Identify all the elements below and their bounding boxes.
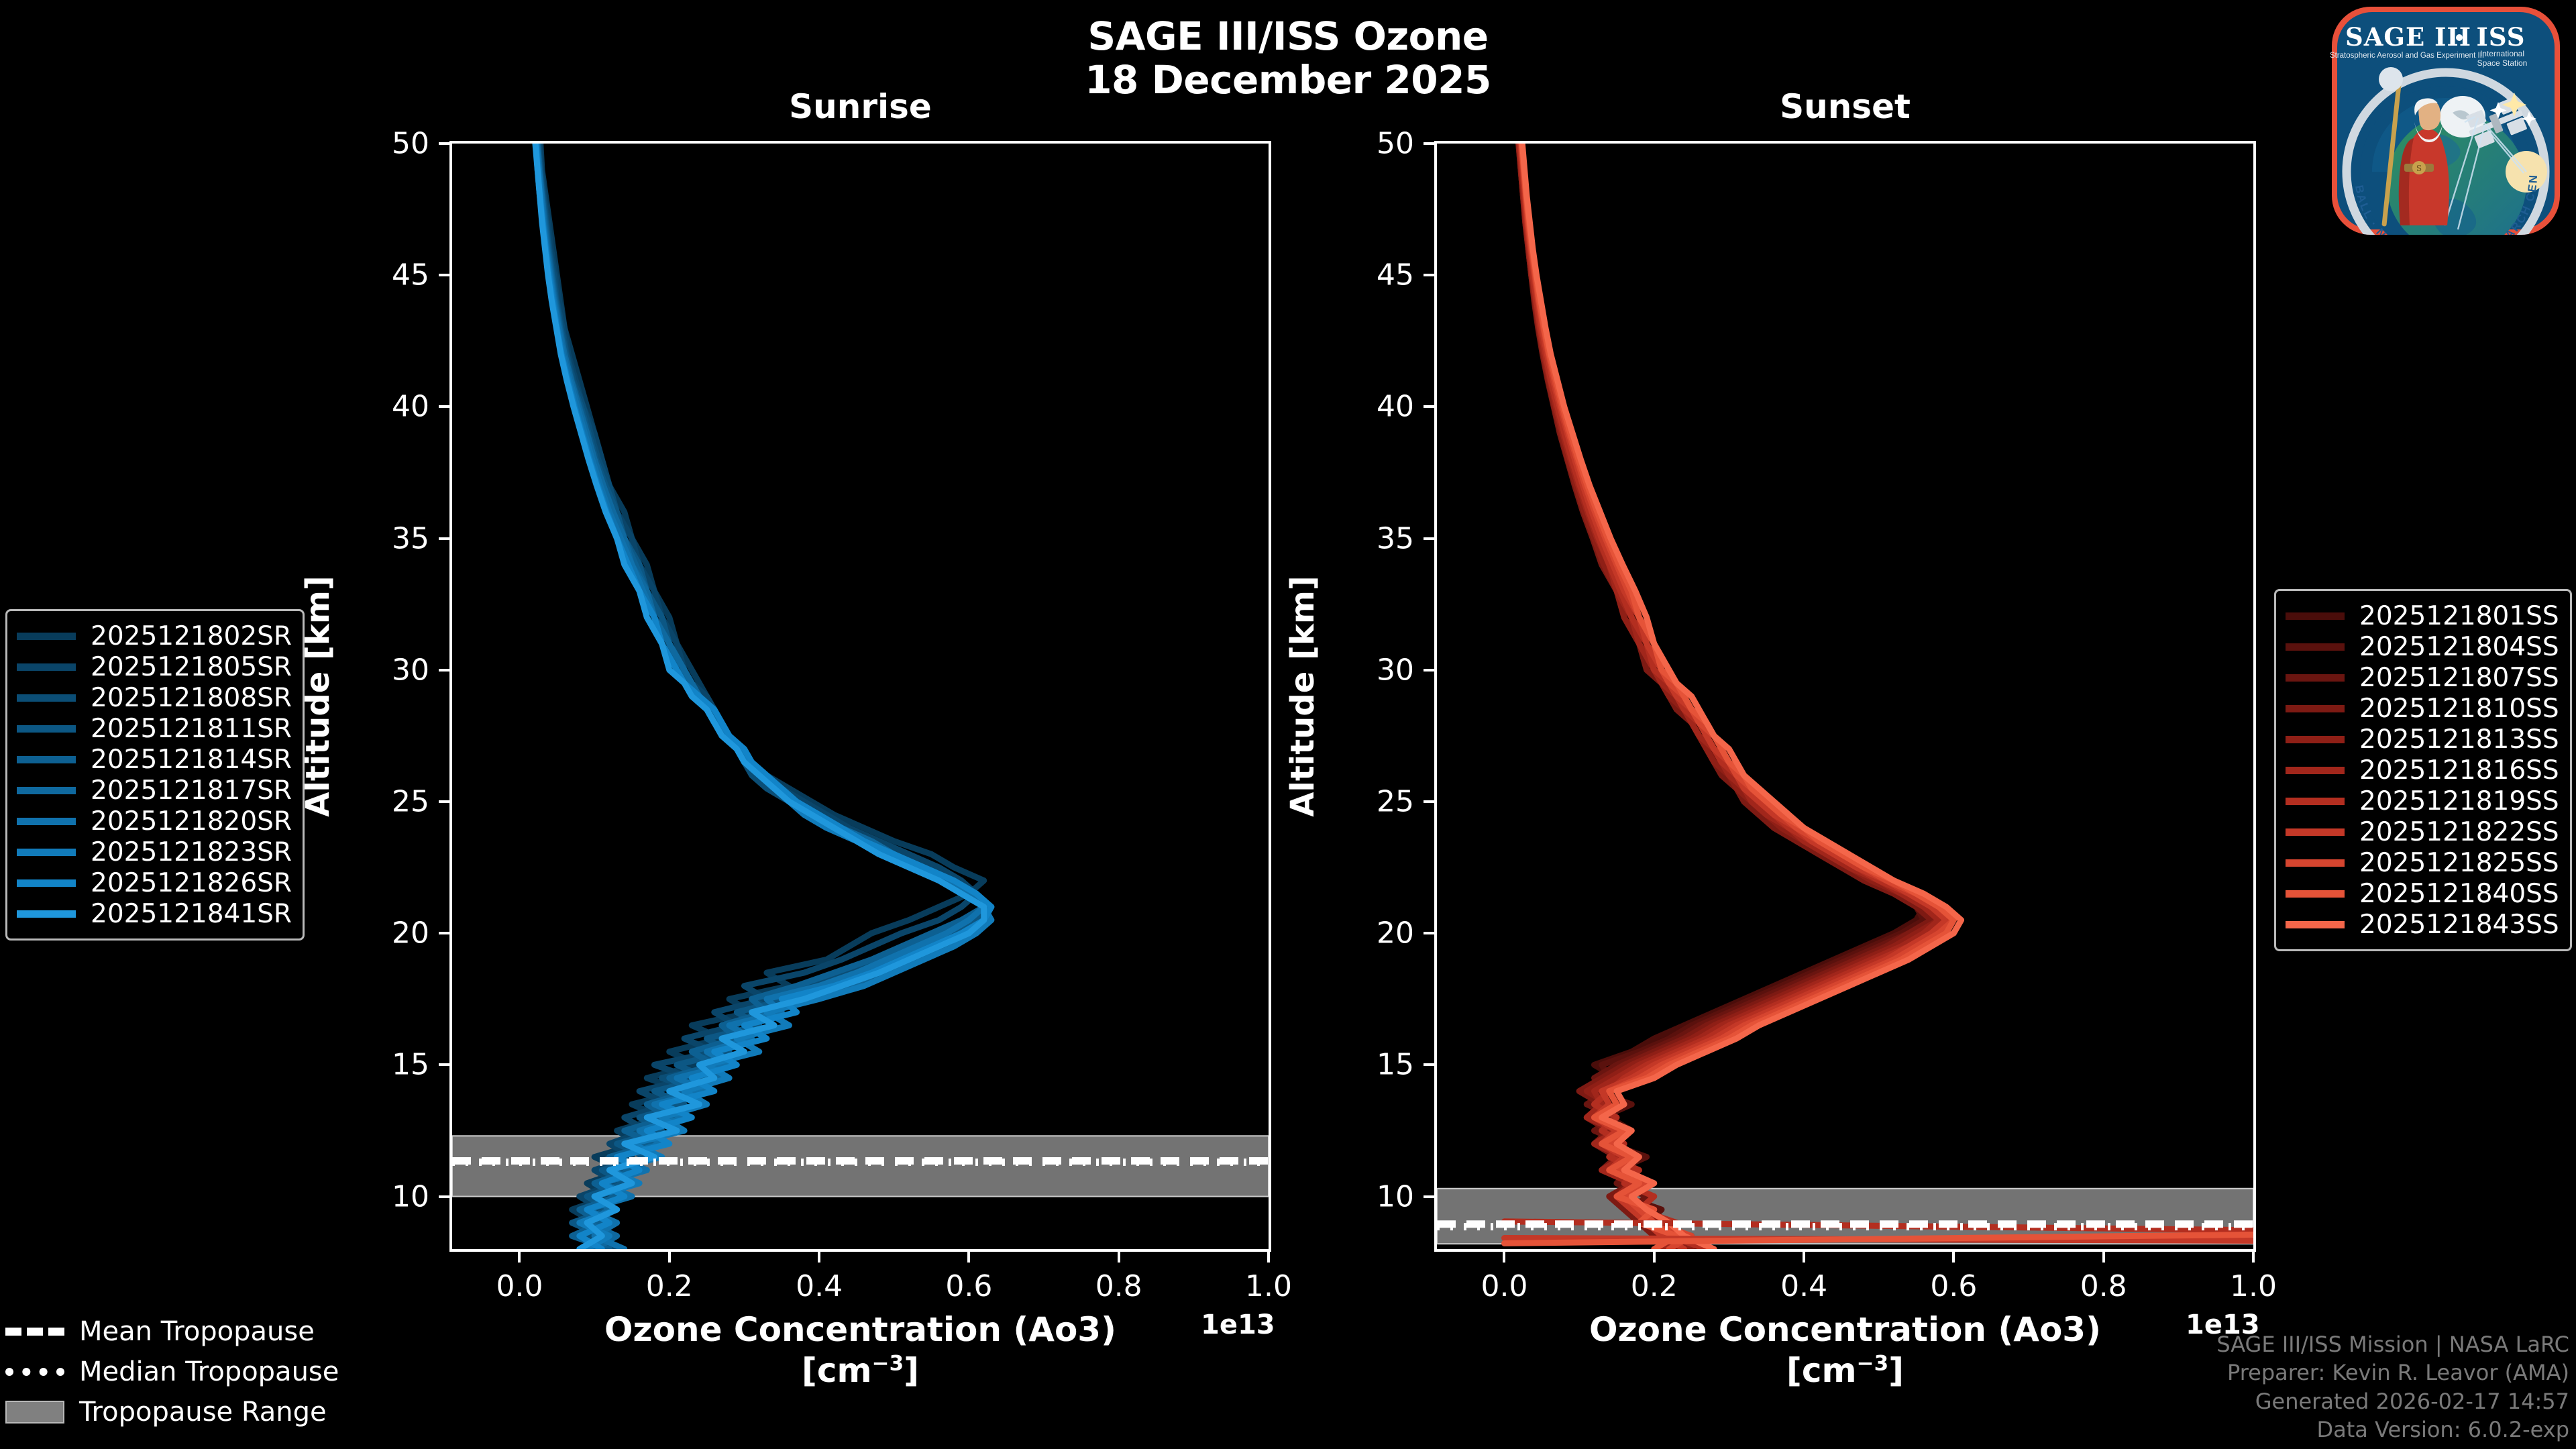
legend-item-label: 2025121810SS [2359,694,2559,724]
legend-sunset-item[interactable]: 2025121816SS [2286,755,2559,786]
legend-sunrise-item[interactable]: 2025121826SR [17,867,292,898]
y-tick-label: 40 [356,390,429,424]
panel-title-sunset: Sunset [1434,87,2256,126]
y-tick-mark [439,274,449,276]
legend-item-label: 2025121822SS [2359,817,2559,847]
legend-item-label: 2025121840SS [2359,879,2559,909]
legend-color-swatch [2286,798,2345,805]
legend-tropopause-item[interactable]: Tropopause Range [5,1392,339,1432]
legend-sunrise-item[interactable]: 2025121817SR [17,775,292,806]
profile-line-2025121805SR [539,144,977,1249]
x-tick-label: 0.2 [646,1269,693,1303]
legend-color-swatch [17,787,76,794]
y-tick-mark [439,1063,449,1066]
legend-sunrise-item[interactable]: 2025121808SR [17,682,292,713]
legend-item-label: 2025121825SS [2359,848,2559,878]
legend-color-swatch [17,818,76,825]
profile-line-2025121811SR [537,144,991,1249]
legend-tropopause[interactable]: Mean TropopauseMedian TropopauseTropopau… [5,1311,339,1432]
legend-sunset-events[interactable]: 2025121801SS2025121804SS2025121807SS2025… [2274,589,2572,951]
profile-line-2025121804SS [1519,144,1924,1249]
y-tick-mark [439,142,449,145]
legend-sunrise-item[interactable]: 2025121802SR [17,621,292,651]
x-axis-label-units-sunset: [cm−3] [1786,1351,1904,1390]
y-tick-label: 35 [1340,521,1414,555]
legend-color-swatch [2286,828,2345,836]
x-tick-label: 0.4 [1780,1269,1827,1303]
legend-sunrise-events[interactable]: 2025121802SR2025121805SR2025121808SR2025… [5,609,305,941]
credits-line-2: Preparer: Kevin R. Leavor (AMA) [2216,1358,2569,1387]
legend-item-label: 2025121843SS [2359,910,2559,940]
legend-color-swatch [2286,767,2345,774]
y-tick-mark [1424,274,1434,276]
y-tick-mark [439,405,449,408]
x-tick-mark [1952,1252,1955,1263]
profile-line-2025121813SS [1519,144,1939,1249]
legend-item-label: 2025121804SS [2359,632,2559,662]
y-tick-label: 25 [356,784,429,818]
profile-line-2025121841SR [535,144,984,1249]
legend-item-label: 2025121801SS [2359,601,2559,631]
legend-item-label: 2025121826SR [91,868,292,898]
y-tick-label: 50 [1340,127,1414,161]
y-tick-mark [1424,800,1434,803]
y-tick-label: 45 [1340,258,1414,292]
profile-line-2025121817SR [537,144,991,1249]
x-tick-mark [668,1252,671,1263]
x-tick-label: 0.0 [1481,1269,1527,1303]
profile-line-2025121820SR [537,144,984,1249]
legend-color-swatch [2286,859,2345,867]
x-axis-label-main-sunrise: Ozone Concentration (Ao3) [604,1310,1116,1349]
y-tick-mark [439,800,449,803]
legend-item-label: 2025121819SS [2359,786,2559,816]
profile-line-2025121822SS [1521,144,1946,1249]
legend-color-swatch [17,756,76,763]
x-tick-mark [1267,1252,1270,1263]
profile-line-2025121819SS [1520,144,1946,1249]
x-tick-mark [2102,1252,2105,1263]
legend-sunset-item[interactable]: 2025121810SS [2286,693,2559,724]
profile-line-2025121816SS [1519,144,1939,1249]
legend-item-label: 2025121814SR [91,745,292,775]
legend-color-swatch [2286,736,2345,743]
y-tick-label: 20 [1340,916,1414,951]
x-tick-label: 0.8 [2080,1269,2127,1303]
profile-line-2025121807SS [1519,144,1931,1249]
y-tick-mark [439,932,449,934]
x-tick-label: 0.6 [945,1269,992,1303]
svg-text:Stratospheric Aerosol and Gas: Stratospheric Aerosol and Gas Experiment… [2330,52,2484,60]
x-axis-label-sunrise: Ozone Concentration (Ao3) [cm−3] [449,1309,1271,1391]
y-tick-label: 20 [356,916,429,951]
legend-color-swatch [17,879,76,887]
panel-title-sunrise: Sunrise [449,87,1271,126]
legend-sunset-item[interactable]: 2025121840SS [2286,878,2559,909]
x-tick-label: 1.0 [1245,1269,1292,1303]
legend-item-label: 2025121813SS [2359,724,2559,755]
legend-color-swatch [17,849,76,856]
credits-block: SAGE III/ISS Mission | NASA LaRC Prepare… [2216,1330,2569,1444]
x-tick-mark [1118,1252,1120,1263]
legend-sunrise-item[interactable]: 2025121805SR [17,651,292,682]
x-tick-mark [1803,1252,1805,1263]
profile-line-2025121802SR [541,144,984,1249]
legend-sunrise-item[interactable]: 2025121814SR [17,744,292,775]
y-tick-label: 45 [356,258,429,292]
legend-color-swatch [17,663,76,671]
legend-sunset-item[interactable]: 2025121819SS [2286,786,2559,816]
legend-item-label: 2025121805SR [91,652,292,682]
y-tick-label: 30 [1340,653,1414,687]
profile-line-2025121825SS [1521,144,1953,1249]
legend-tropopause-label: Mean Tropopause [79,1316,315,1347]
legend-sunset-item[interactable]: 2025121843SS [2286,909,2559,940]
plot-area-sunset [1434,141,2256,1252]
legend-patch-swatch [5,1401,64,1424]
legend-sunset-item[interactable]: 2025121825SS [2286,847,2559,878]
legend-color-swatch [2286,643,2345,651]
sage3-iss-mission-patch-logo: S BALL · NASA LANGLEY RESEARCH CENTER · … [2325,4,2567,239]
tropopause-range-band [452,1136,1269,1196]
credits-line-4: Data Version: 6.0.2-exp [2216,1415,2569,1444]
legend-sunset-item[interactable]: 2025121813SS [2286,724,2559,755]
legend-color-swatch [2286,705,2345,712]
x-tick-mark [1653,1252,1656,1263]
y-tick-mark [439,537,449,540]
svg-text:ISS: ISS [2477,22,2526,52]
x-tick-label: 0.2 [1631,1269,1678,1303]
legend-sunset-item[interactable]: 2025121804SS [2286,631,2559,662]
x-axis-label-main-sunset: Ozone Concentration (Ao3) [1589,1310,2101,1349]
profile-line-2025121810SS [1519,144,1931,1249]
legend-tropopause-label: Median Tropopause [79,1356,339,1387]
y-tick-mark [439,669,449,672]
x-axis-label-units-sunrise: [cm−3] [802,1351,919,1390]
legend-tropopause-label: Tropopause Range [79,1397,327,1428]
x-tick-mark [818,1252,820,1263]
suptitle-line-1: SAGE III/ISS Ozone [1087,13,1488,59]
profile-line-2025121808SR [538,144,983,1249]
legend-color-swatch [2286,921,2345,928]
legend-sunset-item[interactable]: 2025121822SS [2286,816,2559,847]
legend-tropopause-item[interactable]: Mean Tropopause [5,1311,339,1352]
legend-tropopause-item[interactable]: Median Tropopause [5,1352,339,1392]
y-tick-mark [1424,1195,1434,1198]
x-axis-label-sunset: Ozone Concentration (Ao3) [cm−3] [1434,1309,2256,1391]
y-tick-mark [439,1195,449,1198]
legend-dashed-swatch [5,1328,64,1336]
profile-line-2025121826SR [536,144,991,1249]
legend-item-label: 2025121802SR [91,621,292,651]
x-tick-label: 0.6 [1930,1269,1977,1303]
x-tick-mark [518,1252,521,1263]
profile-line-2025121823SR [536,144,991,1249]
legend-item-label: 2025121823SR [91,837,292,867]
legend-sunset-item[interactable]: 2025121807SS [2286,662,2559,693]
legend-sunrise-item[interactable]: 2025121823SR [17,837,292,867]
legend-color-swatch [2286,890,2345,898]
y-tick-label: 50 [356,127,429,161]
profile-line-2025121801SS [1520,144,1924,1249]
x-axis-offset-sunrise: 1e13 [1201,1309,1275,1340]
profile-line-2025121814SR [537,144,983,1249]
legend-dotted-swatch [5,1368,64,1376]
legend-color-swatch [2286,612,2345,620]
y-axis-label-sunrise: Altitude [km] [299,576,337,817]
x-tick-label: 0.8 [1095,1269,1142,1303]
plot-area-sunrise [449,141,1271,1252]
y-tick-label: 35 [356,521,429,555]
x-tick-label: 0.4 [796,1269,843,1303]
x-tick-mark [1503,1252,1505,1263]
svg-text:Space Station: Space Station [2477,58,2528,68]
legend-color-swatch [17,694,76,702]
x-tick-label: 0.0 [496,1269,543,1303]
legend-item-label: 2025121807SS [2359,663,2559,693]
x-tick-label: 1.0 [2230,1269,2277,1303]
legend-sunrise-item[interactable]: 2025121811SR [17,713,292,744]
y-axis-label-sunset: Altitude [km] [1284,576,1322,817]
svg-text:International: International [2480,49,2524,58]
svg-text:S: S [2416,164,2422,173]
y-tick-label: 10 [356,1179,429,1214]
profile-line-2025121840SS [1521,144,1953,1249]
y-tick-label: 30 [356,653,429,687]
y-tick-mark [1424,142,1434,145]
y-tick-label: 15 [356,1048,429,1082]
y-tick-label: 25 [1340,784,1414,818]
y-tick-label: 40 [1340,390,1414,424]
legend-item-label: 2025121811SR [91,714,292,744]
y-tick-mark [1424,405,1434,408]
legend-item-label: 2025121808SR [91,683,292,713]
svg-text:SAGE III: SAGE III [2345,22,2471,52]
legend-color-swatch [17,910,76,918]
legend-item-label: 2025121841SR [91,899,292,929]
legend-item-label: 2025121817SR [91,775,292,806]
legend-sunrise-item[interactable]: 2025121820SR [17,806,292,837]
y-tick-mark [1424,932,1434,934]
y-tick-mark [1424,1063,1434,1066]
legend-color-swatch [17,725,76,733]
credits-line-1: SAGE III/ISS Mission | NASA LaRC [2216,1330,2569,1358]
legend-color-swatch [17,633,76,640]
credits-line-3: Generated 2026-02-17 14:57 [2216,1387,2569,1415]
legend-sunset-item[interactable]: 2025121801SS [2286,600,2559,631]
y-tick-mark [1424,537,1434,540]
x-tick-mark [2252,1252,2255,1263]
legend-color-swatch [2286,674,2345,682]
y-tick-mark [1424,669,1434,672]
y-tick-label: 15 [1340,1048,1414,1082]
legend-item-label: 2025121816SS [2359,755,2559,786]
x-tick-mark [967,1252,970,1263]
y-tick-label: 10 [1340,1179,1414,1214]
legend-item-label: 2025121820SR [91,806,292,837]
legend-sunrise-item[interactable]: 2025121841SR [17,898,292,929]
